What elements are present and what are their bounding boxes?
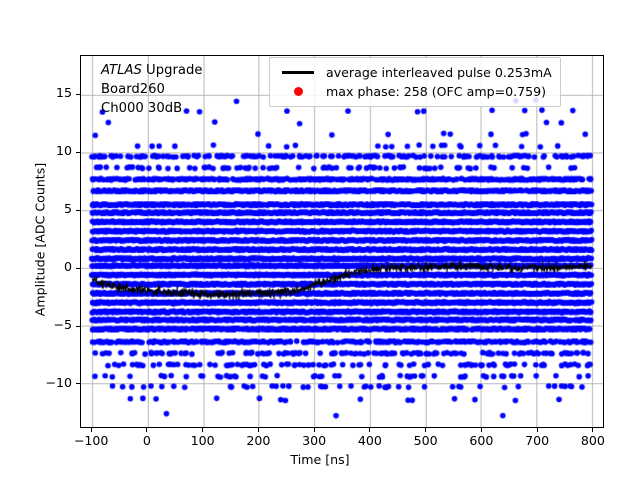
x-tick-label: 400 (340, 435, 400, 447)
x-tick-mark (146, 428, 147, 432)
x-tick-mark (91, 428, 92, 432)
y-tick-mark (76, 383, 80, 384)
x-tick-label: 200 (228, 435, 288, 447)
x-tick-label: −100 (61, 435, 121, 447)
x-tick-mark (258, 428, 259, 432)
legend-label-max-phase: max phase: 258 (OFC amp=0.759) (320, 84, 546, 99)
plot-legend: average interleaved pulse 0.253mA max ph… (269, 57, 561, 107)
x-tick-label: 0 (117, 435, 177, 447)
legend-label-average-pulse: average interleaved pulse 0.253mA (320, 65, 552, 80)
y-tick-mark (76, 268, 80, 269)
legend-entry-average-pulse: average interleaved pulse 0.253mA (276, 63, 552, 82)
marker-dot-icon (276, 87, 320, 96)
x-tick-label: 300 (284, 435, 344, 447)
line-swatch-icon (276, 71, 320, 73)
x-tick-mark (314, 428, 315, 432)
y-tick-mark (76, 152, 80, 153)
x-tick-mark (537, 428, 538, 432)
atlas-emphasis: ATLAS (101, 63, 142, 78)
figure-canvas: −1000100200300400500600700800151050−5−10… (0, 0, 640, 480)
x-tick-label: 800 (563, 435, 623, 447)
legend-entry-max-phase: max phase: 258 (OFC amp=0.759) (276, 82, 552, 101)
x-tick-mark (202, 428, 203, 432)
y-axis-title: Amplitude [ADC Counts] (33, 60, 48, 420)
plot-annotation: ATLAS Upgrade Board260 Ch000 30dB (101, 61, 202, 118)
y-tick-mark (76, 94, 80, 95)
x-tick-mark (481, 428, 482, 432)
x-tick-mark (425, 428, 426, 432)
x-tick-label: 700 (507, 435, 567, 447)
x-axis-title: Time [ns] (0, 452, 640, 467)
x-tick-mark (592, 428, 593, 432)
x-tick-mark (369, 428, 370, 432)
x-tick-label: 500 (396, 435, 456, 447)
annotation-line-3: Ch000 30dB (101, 99, 202, 118)
x-tick-label: 600 (451, 435, 511, 447)
y-tick-mark (76, 210, 80, 211)
y-tick-mark (76, 326, 80, 327)
annotation-upgrade: Upgrade (142, 63, 203, 78)
annotation-line-1: ATLAS Upgrade (101, 61, 202, 80)
annotation-line-2: Board260 (101, 80, 202, 99)
x-tick-label: 100 (173, 435, 233, 447)
